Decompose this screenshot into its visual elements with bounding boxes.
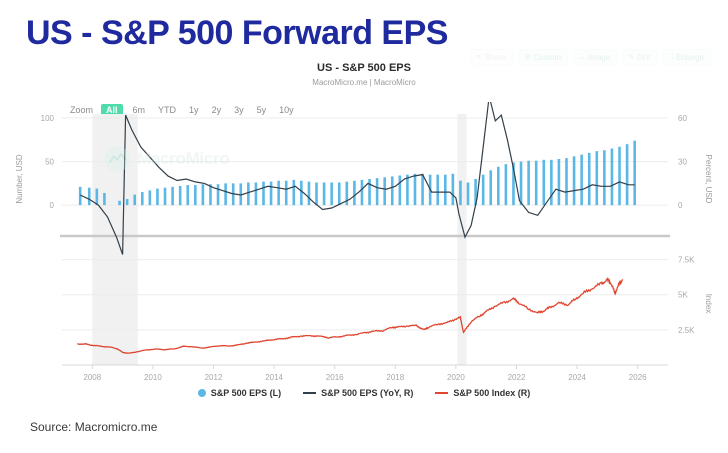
eps-bar bbox=[618, 147, 621, 205]
x-tick-label: 2022 bbox=[508, 373, 526, 382]
legend-dot-icon bbox=[198, 389, 206, 397]
eps-bar bbox=[300, 181, 303, 205]
y-axis-title-right: Percent, USD bbox=[704, 155, 713, 204]
x-tick-label: 2020 bbox=[447, 373, 465, 382]
eps-bar bbox=[224, 183, 227, 205]
eps-bar bbox=[103, 193, 106, 205]
y-tick-label-left: 0 bbox=[50, 201, 55, 210]
eps-bar bbox=[338, 182, 341, 205]
plot-area[interactable]: 050100030602.5K5K7.5K2008201020122014201… bbox=[0, 60, 728, 410]
recession-band bbox=[92, 114, 137, 365]
eps-bar bbox=[308, 182, 311, 206]
eps-bar bbox=[482, 175, 485, 206]
eps-bar bbox=[436, 175, 439, 206]
eps-bar bbox=[520, 162, 523, 206]
eps-bar bbox=[118, 201, 121, 205]
eps-bar bbox=[164, 188, 167, 205]
sp500-index-line bbox=[77, 279, 622, 354]
eps-bar bbox=[315, 182, 318, 205]
eps-bar bbox=[421, 174, 424, 205]
eps-bar bbox=[399, 176, 402, 206]
eps-bar bbox=[383, 177, 386, 205]
legend-item-eps[interactable]: S&P 500 EPS (L) bbox=[198, 388, 281, 398]
eps-bar bbox=[467, 182, 470, 205]
eps-bar bbox=[542, 160, 545, 205]
y-tick-label-index: 2.5K bbox=[678, 326, 695, 335]
chart-legend: S&P 500 EPS (L) S&P 500 EPS (YoY, R) S&P… bbox=[0, 388, 728, 398]
eps-bar bbox=[292, 180, 295, 205]
eps-bar bbox=[368, 179, 371, 205]
legend-label-index: S&P 500 Index (R) bbox=[453, 388, 530, 398]
legend-label-eps: S&P 500 EPS (L) bbox=[211, 388, 281, 398]
eps-bar bbox=[588, 153, 591, 205]
y-tick-label-right: 60 bbox=[678, 114, 687, 123]
eps-bar bbox=[277, 181, 280, 205]
eps-bar bbox=[255, 182, 258, 205]
eps-bar bbox=[452, 174, 455, 205]
x-tick-label: 2012 bbox=[205, 373, 223, 382]
eps-bar bbox=[580, 155, 583, 206]
eps-bar bbox=[489, 170, 492, 205]
eps-bar bbox=[186, 185, 189, 205]
source-caption: Source: Macromicro.me bbox=[30, 420, 157, 434]
eps-bar bbox=[406, 175, 409, 206]
eps-bar bbox=[391, 176, 394, 205]
x-tick-label: 2026 bbox=[629, 373, 647, 382]
chart-svg[interactable]: 050100030602.5K5K7.5K2008201020122014201… bbox=[0, 60, 728, 410]
eps-bar bbox=[626, 144, 629, 205]
eps-bar bbox=[323, 182, 326, 205]
eps-bar bbox=[179, 186, 182, 205]
eps-bar bbox=[603, 150, 606, 205]
x-tick-label: 2018 bbox=[386, 373, 404, 382]
eps-bar bbox=[156, 189, 159, 206]
eps-bar bbox=[96, 189, 99, 206]
x-tick-label: 2010 bbox=[144, 373, 162, 382]
y-tick-label-left: 50 bbox=[45, 158, 54, 167]
eps-bar bbox=[633, 141, 636, 205]
y-tick-label-right: 0 bbox=[678, 201, 683, 210]
eps-bar bbox=[330, 182, 333, 205]
legend-item-index[interactable]: S&P 500 Index (R) bbox=[435, 388, 530, 398]
eps-bar bbox=[270, 182, 273, 206]
y-tick-label-index: 5K bbox=[678, 291, 688, 300]
eps-bar bbox=[361, 180, 364, 205]
eps-bar bbox=[126, 199, 129, 205]
y-tick-label-index: 7.5K bbox=[678, 256, 695, 265]
eps-bar bbox=[550, 160, 553, 205]
eps-bar bbox=[505, 164, 508, 205]
eps-bar bbox=[558, 159, 561, 205]
eps-bar bbox=[497, 167, 500, 205]
eps-bar bbox=[595, 151, 598, 205]
eps-bar bbox=[149, 190, 152, 205]
eps-bar bbox=[353, 181, 356, 205]
eps-bar bbox=[247, 182, 250, 205]
y-axis-title-index: Index bbox=[704, 294, 713, 314]
y-tick-label-left: 100 bbox=[41, 114, 55, 123]
eps-bar bbox=[133, 195, 136, 205]
eps-bar bbox=[565, 158, 568, 205]
legend-line-icon bbox=[435, 392, 448, 394]
legend-label-eps-yoy: S&P 500 EPS (YoY, R) bbox=[321, 388, 413, 398]
page-title: US - S&P 500 Forward EPS bbox=[26, 14, 448, 53]
x-tick-label: 2016 bbox=[326, 373, 344, 382]
eps-bar bbox=[376, 178, 379, 205]
eps-bar bbox=[217, 184, 220, 205]
eps-bar bbox=[527, 161, 530, 205]
eps-bar bbox=[414, 174, 417, 205]
x-tick-label: 2014 bbox=[265, 373, 283, 382]
y-axis-title-left: Number, USD bbox=[15, 154, 24, 204]
chart-card: US - S&P 500 EPS MacroMicro.me | MacroMi… bbox=[0, 60, 728, 410]
eps-bar bbox=[171, 187, 174, 205]
eps-bar bbox=[194, 185, 197, 205]
eps-bar bbox=[88, 188, 91, 205]
y-tick-label-right: 30 bbox=[678, 158, 687, 167]
eps-bar bbox=[202, 184, 205, 205]
eps-bar bbox=[209, 184, 212, 205]
x-tick-label: 2008 bbox=[83, 373, 101, 382]
eps-bar bbox=[444, 175, 447, 206]
eps-bar bbox=[141, 192, 144, 205]
eps-bar bbox=[535, 161, 538, 205]
eps-bar bbox=[262, 182, 265, 206]
x-tick-label: 2024 bbox=[568, 373, 586, 382]
legend-item-eps-yoy[interactable]: S&P 500 EPS (YoY, R) bbox=[303, 388, 413, 398]
eps-bar bbox=[573, 156, 576, 205]
legend-line-icon bbox=[303, 392, 316, 394]
eps-bar bbox=[285, 181, 288, 205]
eps-bar bbox=[459, 181, 462, 205]
eps-bar bbox=[611, 149, 614, 206]
